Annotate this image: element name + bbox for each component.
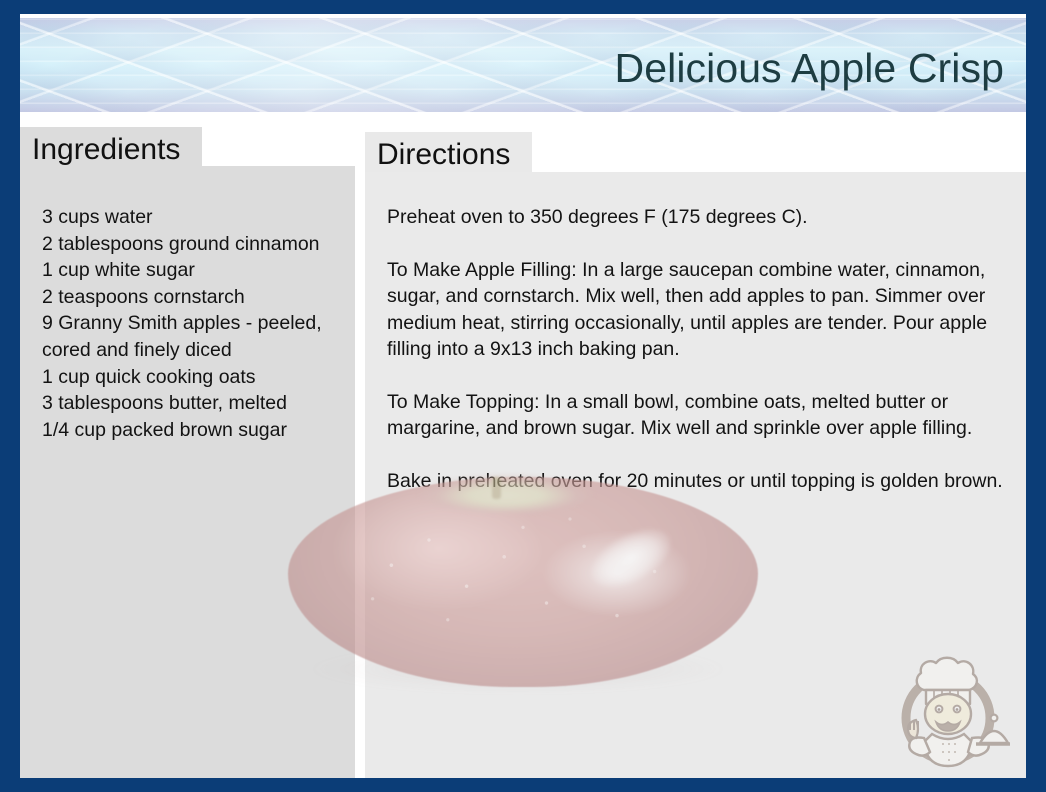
list-item: 1/4 cup packed brown sugar — [42, 417, 349, 444]
recipe-slide: Delicious Apple Crisp Ingredients Direct… — [0, 0, 1046, 792]
ingredients-panel: 3 cups water2 tablespoons ground cinnamo… — [20, 166, 355, 778]
slide-content-area: Delicious Apple Crisp Ingredients Direct… — [20, 14, 1026, 778]
panel-divider — [355, 166, 365, 778]
list-item: 1 cup white sugar — [42, 257, 349, 284]
list-item: 1 cup quick cooking oats — [42, 364, 349, 391]
list-item: 3 tablespoons butter, melted — [42, 390, 349, 417]
ingredients-list: 3 cups water2 tablespoons ground cinnamo… — [42, 204, 349, 443]
list-item: 9 Granny Smith apples - peeled, cored an… — [42, 310, 349, 363]
page-title: Delicious Apple Crisp — [615, 48, 1005, 89]
list-item: 2 tablespoons ground cinnamon — [42, 231, 349, 258]
chef-logo — [884, 644, 1012, 770]
direction-paragraph: Bake in preheated oven for 20 minutes or… — [387, 468, 1010, 495]
direction-paragraph: To Make Apple Filling: In a large saucep… — [387, 257, 1010, 363]
list-item: 2 teaspoons cornstarch — [42, 284, 349, 311]
direction-paragraph: Preheat oven to 350 degrees F (175 degre… — [387, 204, 1010, 231]
directions-text: Preheat oven to 350 degrees F (175 degre… — [387, 204, 1010, 494]
direction-paragraph: To Make Topping: In a small bowl, combin… — [387, 389, 1010, 442]
list-item: 3 cups water — [42, 204, 349, 231]
title-banner: Delicious Apple Crisp — [20, 18, 1026, 112]
